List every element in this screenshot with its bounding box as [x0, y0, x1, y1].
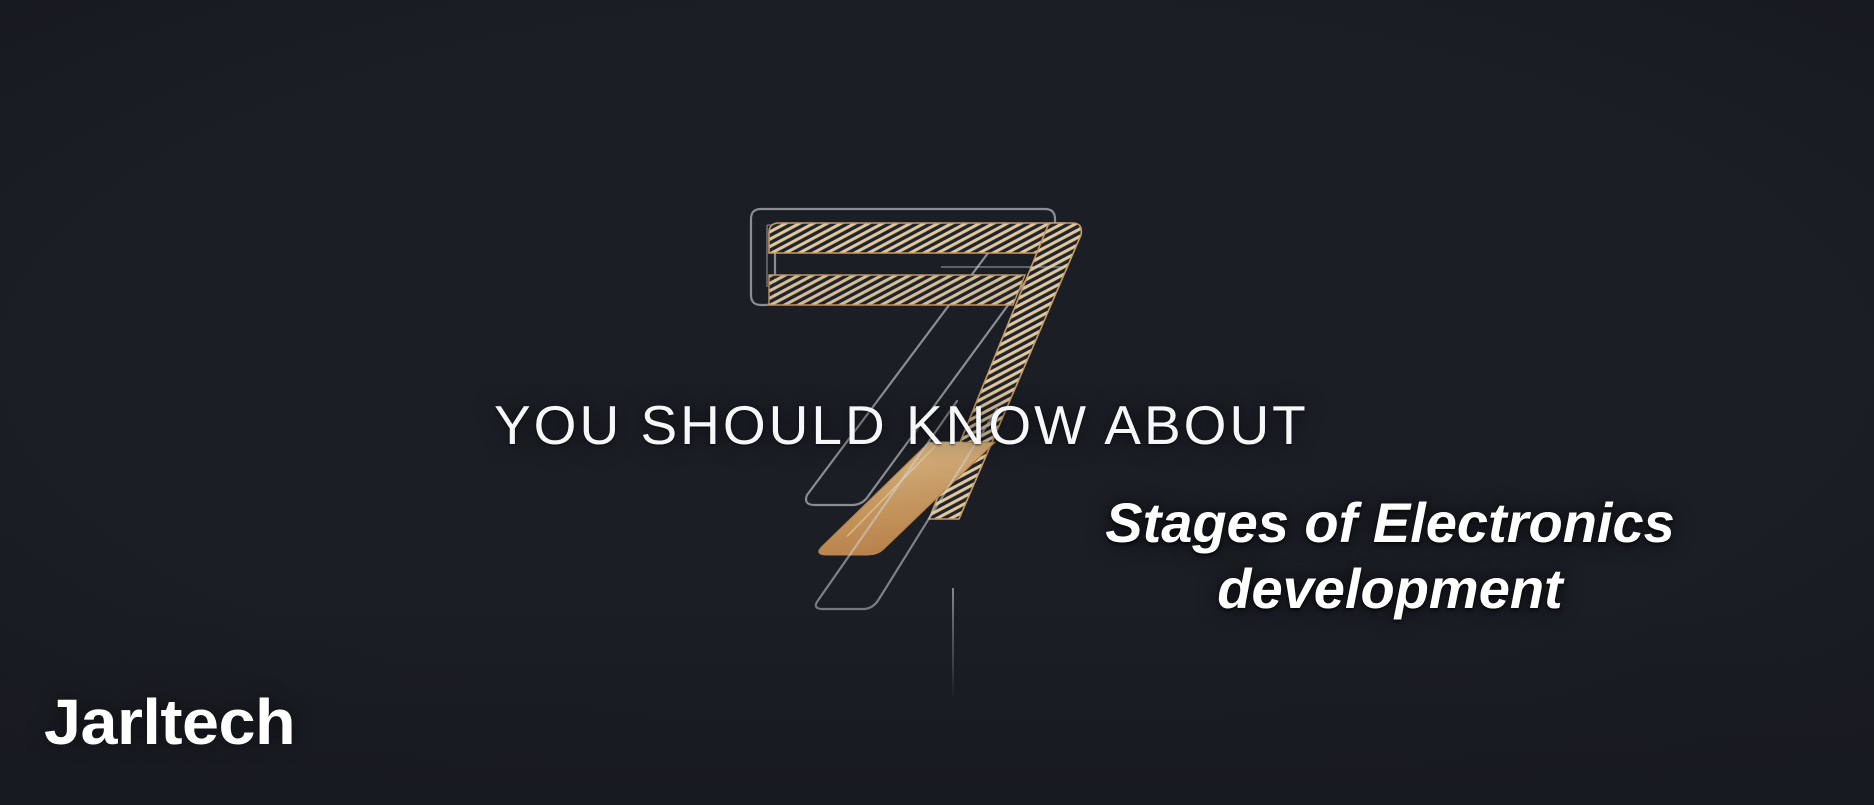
subheadline-text: Stages of Electronics development: [1050, 490, 1730, 622]
subheadline-line-1: Stages of Electronics: [1050, 490, 1730, 556]
subheadline-line-2: development: [1050, 556, 1730, 622]
promo-banner: YOU SHOULD KNOW ABOUT Stages of Electron…: [0, 0, 1874, 805]
vertical-tick-icon: [952, 588, 954, 698]
jarltech-logo: Jarltech: [44, 690, 295, 754]
headline-text: YOU SHOULD KNOW ABOUT: [494, 398, 1309, 453]
